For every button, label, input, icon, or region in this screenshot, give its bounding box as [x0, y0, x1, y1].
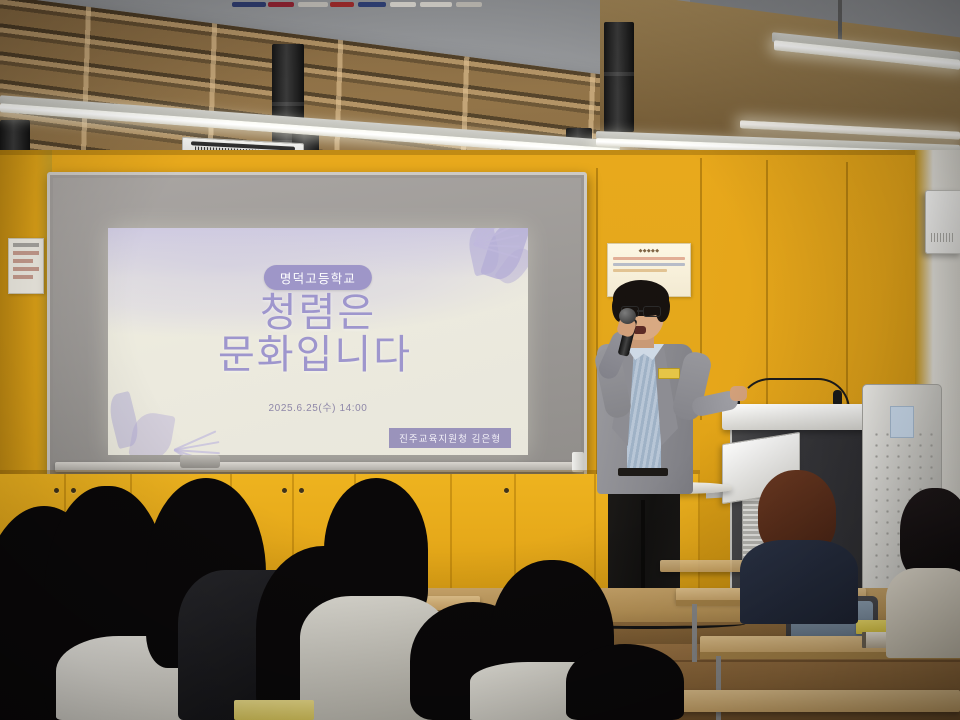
notice-line: [13, 275, 33, 279]
presenter-hand-on-podium: [730, 386, 747, 401]
presenter-belt: [618, 468, 668, 476]
marker: [298, 2, 328, 7]
photo-scene: ◆◆◆◆◆ 명덕고등학교 청렴은 문화입니다: [0, 0, 960, 720]
handheld-microphone-head: [619, 308, 636, 324]
notice-line: [13, 243, 39, 247]
notice-line: [13, 259, 33, 263]
slide-school-badge: 명덕고등학교: [264, 265, 372, 290]
slide-title-line-1: 청렴은: [260, 291, 376, 335]
light-stem: [838, 0, 842, 44]
desk: [672, 690, 960, 712]
yellow-handout-foreground: [234, 700, 314, 720]
whiteboard-eraser: [180, 455, 220, 468]
duct-drop-7: [604, 22, 634, 132]
marker: [232, 2, 266, 7]
notice-line: [13, 251, 39, 255]
poster-line: [613, 269, 667, 272]
equipment-tag: [890, 406, 914, 438]
tray-cup: [572, 452, 584, 472]
marker: [358, 2, 386, 7]
marker: [420, 2, 452, 7]
slide-title: 청렴은 문화입니다: [224, 292, 412, 377]
slide-date: 2025.6.25(수) 14:00: [269, 399, 368, 414]
presenter-name-badge: [658, 368, 680, 379]
projected-slide: 명덕고등학교 청렴은 문화입니다 2025.6.25(수) 14:00 진주교육…: [108, 228, 528, 455]
wall-top-shadow: [0, 150, 960, 155]
marker: [330, 2, 354, 7]
desk-leg: [692, 604, 697, 662]
slide-credit: 진주교육지원청 김은형: [389, 428, 511, 448]
seated-attendee-navy-body: [740, 540, 858, 624]
marker: [456, 2, 482, 7]
presenter-glasses-right: [643, 306, 661, 317]
seated-attendee-cream-hair: [900, 488, 960, 580]
poster-line: [613, 263, 685, 266]
cabinet-door: [452, 474, 516, 594]
poster-title: ◆◆◆◆◆: [613, 248, 685, 254]
seated-attendee-cream-body: [886, 568, 960, 658]
notice-line: [13, 267, 39, 271]
slide-title-line-2: 문화입니다: [218, 334, 412, 376]
poster-line: [613, 257, 685, 260]
marker: [268, 2, 294, 7]
marker: [390, 2, 416, 7]
foreground-attendee-8-hair: [566, 644, 684, 720]
wall-speaker: [925, 190, 960, 254]
presenter-glasses-bridge: [637, 310, 643, 312]
speaker-vent: [931, 233, 955, 242]
wall-notice: [8, 238, 44, 294]
